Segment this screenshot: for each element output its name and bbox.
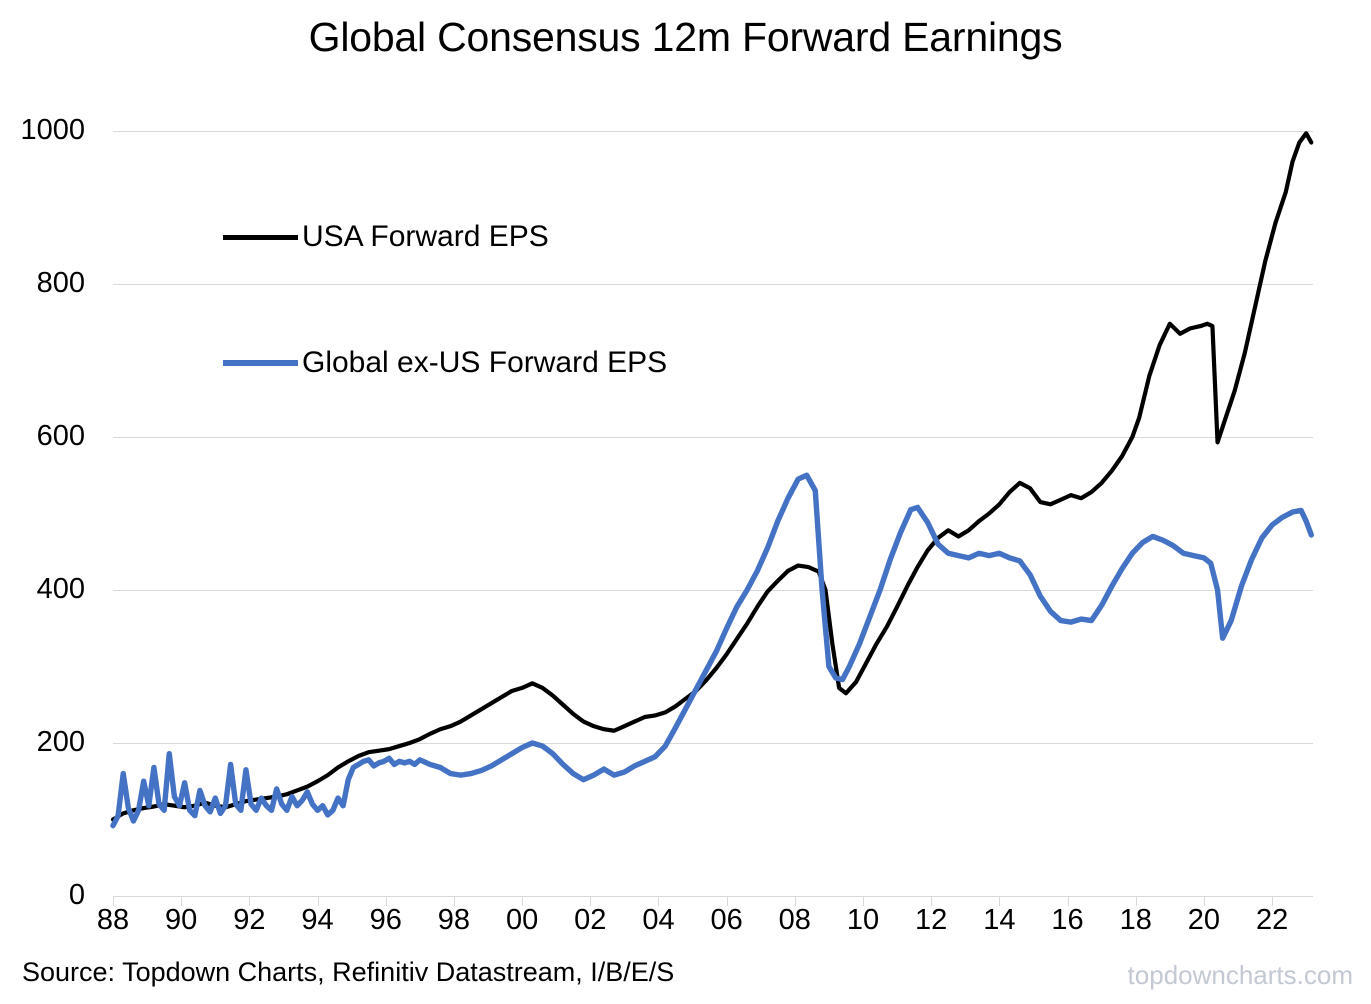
watermark: topdowncharts.com bbox=[1128, 960, 1353, 991]
source-note: Source: Topdown Charts, Refinitiv Datast… bbox=[22, 957, 674, 988]
series-plot bbox=[0, 0, 1371, 1004]
x-axis-line bbox=[113, 896, 1313, 897]
series-line-usa-forward-eps bbox=[113, 133, 1311, 819]
series-line-global-ex-us-forward-eps bbox=[113, 475, 1311, 825]
chart-container: Global Consensus 12m Forward Earnings 10… bbox=[0, 0, 1371, 1004]
